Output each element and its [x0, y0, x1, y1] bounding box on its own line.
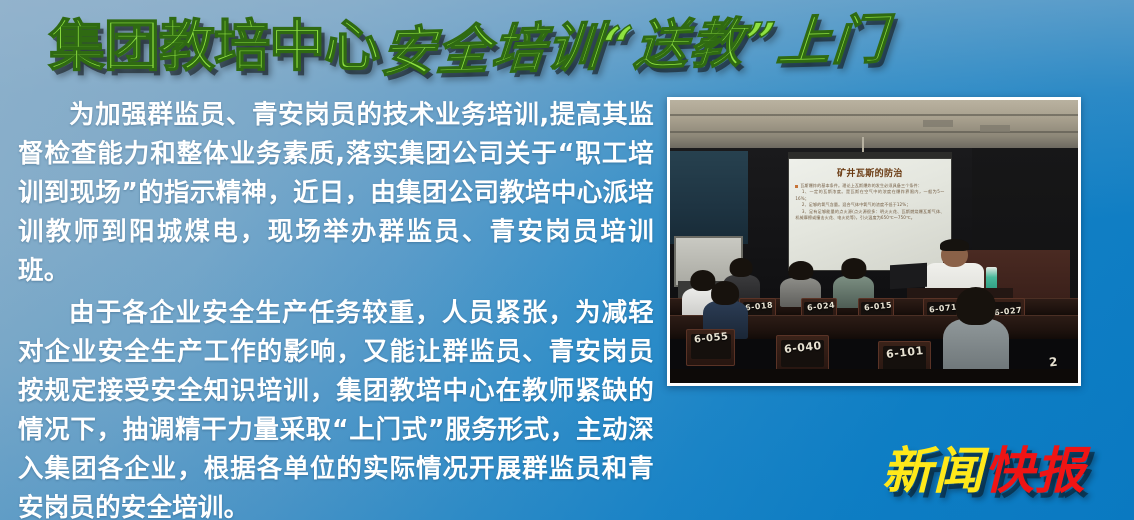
slide-line-1: 瓦斯爆炸的基本条件。理论上瓦斯爆炸的发生必须具备三个条件： [800, 183, 922, 188]
title-part-gothic: 集团教培中心 [49, 19, 379, 74]
student-head [711, 281, 739, 305]
news-logo-part-red: 快报 [984, 446, 1086, 496]
article-paragraph-1: 为加强群监员、青安岗员的技术业务培训,提高其监督检查能力和整体业务素质,落实集团… [18, 96, 654, 291]
title-part-brush: 安全培训“送教”上门 [379, 13, 889, 79]
student-head [841, 258, 866, 278]
ceiling-line [670, 114, 1078, 116]
wall-curtain [670, 151, 748, 244]
projector-pole [862, 137, 864, 154]
ceiling [670, 100, 1078, 148]
floor [670, 369, 1078, 383]
ceiling-vent [923, 120, 953, 127]
photo-scene: 矿井瓦斯的防治 瓦斯爆炸的基本条件。理论上瓦斯爆炸的发生必须具备三个条件： 1、… [670, 100, 1078, 383]
slide-bullet-icon [795, 185, 798, 188]
slide-title: 矿井瓦斯的防治 [795, 166, 944, 179]
student-foreground [943, 287, 1008, 378]
article-body: 为加强群监员、青安岗员的技术业务培训,提高其监督检查能力和整体业务素质,落实集团… [18, 96, 654, 520]
article-paragraph-2: 由于各企业安全生产任务较重，人员紧张，为减轻对企业安全生产工作的影响，又能让群监… [18, 294, 654, 520]
projection-screen: 矿井瓦斯的防治 瓦斯爆炸的基本条件。理论上瓦斯爆炸的发生必须具备三个条件： 1、… [788, 158, 951, 271]
student-head [956, 287, 996, 325]
student-head [788, 261, 813, 280]
ceiling-line [670, 131, 1078, 133]
student-head [730, 258, 753, 277]
instructor-hair [940, 239, 969, 252]
slide-body: 瓦斯爆炸的基本条件。理论上瓦斯爆炸的发生必须具备三个条件： 1、一定的瓦斯浓度。… [795, 183, 944, 221]
laptop [890, 263, 927, 290]
news-poster: 集团教培中心 安全培训“送教”上门 为加强群监员、青安岗员的技术业务培训,提高其… [0, 0, 1134, 520]
seat-label: 2 [1049, 354, 1059, 369]
poster-title: 集团教培中心 安全培训“送教”上门 [52, 10, 887, 82]
news-flash-logo: 新闻 快报 [882, 446, 1086, 496]
ceiling-vent [980, 125, 1010, 132]
slide-line-2: 1、一定的瓦斯浓度。是瓦斯在空气中的浓度在爆炸界限内，一般为5～16%； [795, 189, 944, 202]
news-logo-part-yellow: 新闻 [882, 446, 984, 496]
slide-line-4: 3、足有足够能量的点火源(点火源很多：明火火花、瓦斯燃烧爆瓦斯气体、机械摩擦或撞… [795, 209, 944, 222]
training-photo: 矿井瓦斯的防治 瓦斯爆炸的基本条件。理论上瓦斯爆炸的发生必须具备三个条件： 1、… [667, 97, 1081, 386]
